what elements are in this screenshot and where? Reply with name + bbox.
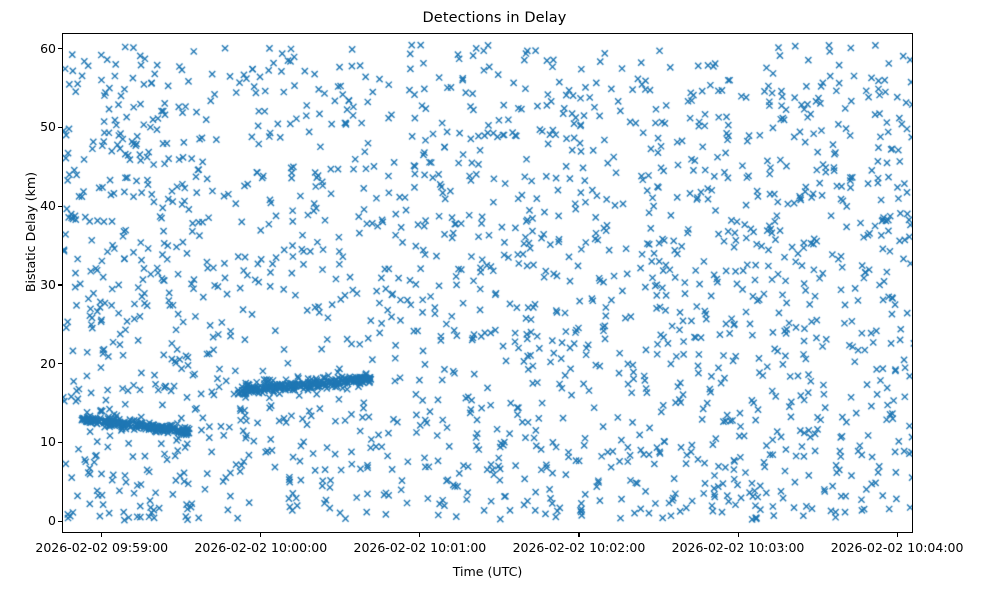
chart-title: Detections in Delay — [0, 10, 989, 26]
x-axis-tick-mark — [738, 533, 739, 537]
x-axis-tick-mark — [897, 533, 898, 537]
scatter-plot-canvas — [63, 34, 913, 533]
y-axis-tick-mark — [58, 521, 62, 522]
y-axis-tick-mark — [58, 206, 62, 207]
x-axis-tick-mark — [578, 533, 579, 537]
x-axis-tick-label: 2026-02-02 10:02:00 — [499, 540, 659, 555]
x-axis-tick-mark — [101, 533, 102, 537]
x-axis-tick-label: 2026-02-02 10:04:00 — [817, 540, 977, 555]
x-axis-tick-mark — [260, 533, 261, 537]
y-axis-tick-label: 60 — [20, 41, 56, 56]
y-axis-tick-mark — [58, 127, 62, 128]
x-axis-tick-mark — [419, 533, 420, 537]
x-axis-label: Time (UTC) — [62, 564, 913, 579]
x-axis-tick-label: 2026-02-02 10:00:00 — [181, 540, 341, 555]
y-axis-tick-label: 20 — [20, 356, 56, 371]
y-axis-tick-mark — [58, 48, 62, 49]
y-axis-label: Bistatic Delay (km) — [23, 132, 38, 332]
y-axis-tick-label: 0 — [20, 513, 56, 528]
y-axis-tick-mark — [58, 442, 62, 443]
x-axis-tick-label: 2026-02-02 10:01:00 — [340, 540, 500, 555]
y-axis-tick-mark — [58, 363, 62, 364]
x-axis-tick-label: 2026-02-02 09:59:00 — [22, 540, 182, 555]
y-axis-tick-label: 10 — [20, 434, 56, 449]
plot-axes — [62, 33, 913, 533]
x-axis-tick-label: 2026-02-02 10:03:00 — [658, 540, 818, 555]
figure-canvas: Detections in Delay 0102030405060 2026-0… — [0, 0, 989, 590]
y-axis-tick-mark — [58, 284, 62, 285]
